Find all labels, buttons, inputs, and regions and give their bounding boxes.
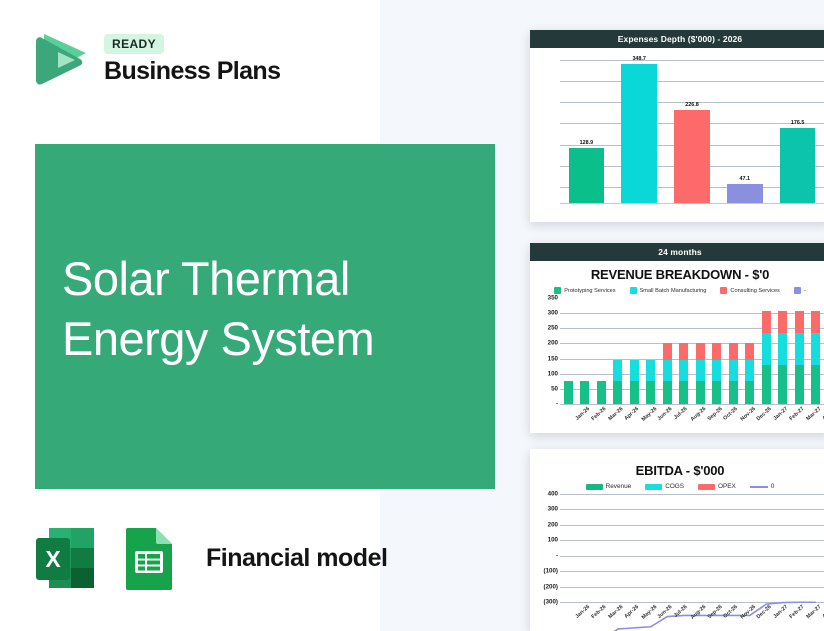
x-tick: Apr-26	[624, 406, 641, 422]
legend-item[interactable]: -	[794, 287, 806, 294]
bar-segment	[630, 381, 639, 404]
y-tick: -	[556, 552, 558, 559]
bar-segment	[712, 381, 721, 404]
legend-swatch-icon	[698, 484, 715, 490]
y-tick: 250	[548, 325, 558, 332]
legend-swatch-icon	[720, 287, 727, 294]
stacked-bar-item[interactable]	[729, 298, 738, 404]
bar-rect	[569, 148, 605, 204]
bar-segment	[762, 365, 771, 404]
y-tick: 50	[551, 385, 558, 392]
y-tick: -	[556, 401, 558, 408]
bar-rect	[780, 128, 816, 204]
legend-item[interactable]: Prototyping Services	[554, 287, 615, 294]
x-tick: May-26	[640, 406, 658, 423]
legend-label: COGS	[665, 483, 684, 490]
bar-segment	[811, 365, 820, 404]
revenue-bar-chart: 350 300 250 200 150 100 50 - Jan-26Feb-2…	[534, 298, 824, 404]
bar-value-label: 128.9	[580, 140, 594, 146]
expenses-baseline	[560, 203, 824, 204]
bar-segment	[795, 311, 804, 333]
bar-segment	[729, 381, 738, 404]
bar-segment	[745, 343, 754, 361]
bar-segment	[778, 365, 787, 404]
legend-label: -	[804, 288, 806, 294]
bar-segment	[630, 360, 639, 381]
legend-label: Prototyping Services	[564, 288, 615, 294]
revenue-chart-title: REVENUE BREAKDOWN - $'0	[530, 261, 824, 284]
bar-segment	[597, 381, 606, 404]
play-triangle-logo-icon	[28, 26, 90, 92]
microsoft-excel-icon: X	[32, 524, 98, 592]
google-sheets-icon	[116, 524, 182, 592]
x-tick: Jul-26	[673, 406, 689, 421]
legend-swatch-icon	[586, 484, 603, 490]
y-tick: 200	[548, 521, 558, 528]
x-tick: Sep-26	[706, 406, 723, 422]
x-tick: Jan-26	[574, 406, 591, 422]
bar-item[interactable]: 47.1	[727, 52, 763, 204]
bar-rect	[674, 110, 710, 204]
bar-segment	[679, 343, 688, 361]
y-tick: 200	[548, 340, 558, 347]
bar-segment	[646, 360, 655, 381]
stacked-bar-item[interactable]	[597, 298, 606, 404]
bar-segment	[729, 343, 738, 361]
bar-value-label: 226.8	[685, 102, 699, 108]
brand-lockup: READY Business Plans	[28, 26, 280, 92]
bar-segment	[663, 360, 672, 381]
expenses-bar-chart: 128.9 348.7 226.8 47.1 176.5	[534, 52, 824, 204]
legend-line-icon	[750, 486, 768, 488]
bar-segment	[663, 381, 672, 404]
legend-item[interactable]: OPEX	[698, 483, 736, 490]
y-tick: 100	[548, 370, 558, 377]
y-tick: (100)	[544, 568, 558, 575]
legend-item[interactable]: COGS	[645, 483, 684, 490]
bar-rect	[727, 184, 763, 204]
bar-segment	[762, 333, 771, 364]
expenses-chart-header: Expenses Depth ($'000) - 2026	[530, 30, 824, 48]
x-tick: Mar-27	[805, 406, 822, 422]
bar-segment	[778, 333, 787, 364]
bar-segment	[696, 360, 705, 381]
bar-segment	[696, 381, 705, 404]
bar-value-label: 176.5	[791, 120, 805, 126]
stacked-bar-item[interactable]	[564, 298, 573, 404]
bar-segment	[778, 311, 787, 333]
bar-segment	[795, 333, 804, 364]
bar-item[interactable]: 348.7	[621, 52, 657, 204]
x-tick: Mar-26	[607, 406, 624, 422]
chart-card-revenue[interactable]: 24 months REVENUE BREAKDOWN - $'0 Protot…	[530, 243, 824, 433]
page-title: Solar Thermal Energy System	[62, 249, 482, 369]
stacked-bar-item[interactable]	[580, 298, 589, 404]
legend-swatch-icon	[630, 287, 637, 294]
y-tick: (300)	[544, 599, 558, 606]
stacked-bar-item[interactable]	[696, 298, 705, 404]
ebitda-chart-title: EBITDA - $'000	[530, 449, 824, 480]
bar-item[interactable]: 128.9	[569, 52, 605, 204]
bar-segment	[811, 333, 820, 364]
x-tick: Jan-27	[772, 406, 789, 422]
legend-swatch-icon	[645, 484, 662, 490]
stacked-bar-item[interactable]	[762, 298, 771, 404]
ebitda-bar-chart: 400 300 200 100 - (100) (200) (300)	[534, 494, 824, 602]
y-tick: 350	[548, 295, 558, 302]
bar-segment	[696, 343, 705, 361]
bar-segment	[795, 365, 804, 404]
revenue-legend: Prototyping Services Small Batch Manufac…	[530, 284, 824, 296]
x-tick: Feb-27	[789, 406, 806, 422]
y-tick: 300	[548, 310, 558, 317]
bar-segment	[613, 360, 622, 381]
bar-rect	[621, 64, 657, 204]
bar-segment	[646, 381, 655, 404]
format-row: X Financial model	[32, 524, 387, 592]
stacked-bar-item[interactable]	[745, 298, 754, 404]
x-tick: Feb-26	[591, 406, 608, 422]
stacked-bar-item[interactable]	[646, 298, 655, 404]
bar-value-label: 47.1	[740, 176, 751, 182]
stacked-bar-item[interactable]	[712, 298, 721, 404]
bar-value-label: 348.7	[632, 56, 646, 62]
y-tick: (200)	[544, 583, 558, 590]
bar-segment	[729, 360, 738, 381]
x-tick: Oct-26	[723, 406, 739, 422]
revenue-y-axis: 350 300 250 200 150 100 50 -	[534, 298, 560, 404]
y-tick: 400	[548, 491, 558, 498]
legend-item[interactable]: 0	[750, 483, 775, 490]
legend-label: 0	[771, 483, 775, 490]
legend-label: Consulting Services	[730, 288, 779, 294]
bar-segment	[745, 381, 754, 404]
bar-segment	[745, 360, 754, 381]
chart-card-expenses[interactable]: Expenses Depth ($'000) - 2026 128.9 348.…	[530, 30, 824, 222]
legend-label: Small Batch Manufacturing	[640, 288, 707, 294]
stacked-bar-item[interactable]	[630, 298, 639, 404]
y-tick: 100	[548, 537, 558, 544]
poster-canvas: READY Business Plans Solar Thermal Energ…	[0, 0, 824, 631]
legend-label: OPEX	[718, 483, 736, 490]
legend-swatch-icon	[794, 287, 801, 294]
y-tick: 300	[548, 506, 558, 513]
x-tick: Nov-26	[739, 406, 756, 422]
format-label: Financial model	[206, 544, 387, 573]
ready-badge: READY	[104, 34, 164, 54]
expenses-bars: 128.9 348.7 226.8 47.1 176.5	[560, 52, 824, 204]
bar-segment	[564, 381, 573, 404]
bar-segment	[580, 381, 589, 404]
bar-segment	[712, 343, 721, 361]
legend-item[interactable]: Small Batch Manufacturing	[630, 287, 707, 294]
stacked-bar-item[interactable]	[811, 298, 820, 404]
bar-segment	[613, 381, 622, 404]
bar-segment	[762, 311, 771, 333]
chart-card-ebitda[interactable]: EBITDA - $'000 Revenue COGS OPEX 0 400	[530, 449, 824, 631]
revenue-period-header: 24 months	[530, 243, 824, 261]
x-tick: Jun-26	[657, 406, 674, 422]
bar-segment	[712, 360, 721, 381]
brand-name: Business Plans	[104, 58, 280, 84]
svg-text:X: X	[45, 546, 61, 572]
hero-block: Solar Thermal Energy System	[35, 144, 495, 489]
y-tick: 150	[548, 355, 558, 362]
revenue-bars	[560, 298, 824, 404]
x-tick: Dec-26	[756, 406, 773, 422]
ebitda-x-axis: Jan-26Feb-26Mar-26Apr-26May-26Jun-26Jul-…	[560, 602, 824, 603]
revenue-x-axis: Jan-26Feb-26Mar-26Apr-26May-26Jun-26Jul-…	[560, 404, 824, 405]
legend-swatch-icon	[554, 287, 561, 294]
stacked-bar-item[interactable]	[663, 298, 672, 404]
stacked-bar-item[interactable]	[778, 298, 787, 404]
stacked-bar-item[interactable]	[795, 298, 804, 404]
bar-segment	[811, 311, 820, 333]
ebitda-y-axis: 400 300 200 100 - (100) (200) (300)	[534, 494, 560, 602]
bar-segment	[679, 360, 688, 381]
legend-item[interactable]: Consulting Services	[720, 287, 779, 294]
legend-item[interactable]: Revenue	[586, 483, 632, 490]
stacked-bar-item[interactable]	[679, 298, 688, 404]
x-tick: Aug-26	[690, 406, 708, 423]
bar-segment	[679, 381, 688, 404]
bar-item[interactable]: 226.8	[674, 52, 710, 204]
bar-segment	[663, 343, 672, 361]
bar-item[interactable]: 176.5	[780, 52, 816, 204]
stacked-bar-item[interactable]	[613, 298, 622, 404]
legend-label: Revenue	[606, 483, 632, 490]
ebitda-legend: Revenue COGS OPEX 0	[530, 480, 824, 492]
